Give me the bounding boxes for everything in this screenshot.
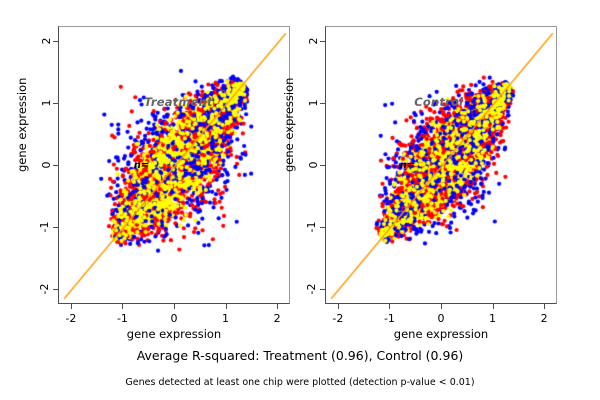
- x-tick-mark: [441, 304, 442, 309]
- x-tick-label: -2: [332, 312, 343, 325]
- y-axis-title-text: gene expression: [282, 156, 296, 172]
- y-tick-mark: [320, 289, 325, 290]
- y-tick-label: 1: [310, 97, 317, 110]
- panel-title-control: Control: [414, 95, 463, 109]
- y-axis-title: gene expression: [281, 157, 297, 171]
- y-tick-label-text: -1: [305, 221, 318, 232]
- plot-area-control: [325, 26, 557, 304]
- x-tick-mark: [338, 304, 339, 309]
- n-count-label-treatment: n=: [134, 160, 150, 171]
- y-tick-label: -1: [306, 220, 317, 233]
- x-tick-mark: [493, 304, 494, 309]
- y-tick-label-text: 0: [307, 162, 320, 169]
- y-tick-mark: [320, 227, 325, 228]
- caption-average-r-squared: Average R-squared: Treatment (0.96), Con…: [0, 348, 600, 363]
- y-tick-mark: [320, 103, 325, 104]
- y-tick-mark: [320, 165, 325, 166]
- y-tick-label-text: -2: [305, 283, 318, 294]
- scatter-canvas-control: [326, 27, 557, 304]
- y-tick-label-text: 2: [307, 38, 320, 45]
- x-tick-label: 0: [438, 312, 445, 325]
- y-tick-mark: [320, 41, 325, 42]
- x-tick-label: -1: [384, 312, 395, 325]
- figure-root: Treatmentn=-2-1012-2-1012gene expression…: [0, 0, 600, 400]
- x-tick-mark: [544, 304, 545, 309]
- x-axis-title: gene expression: [394, 327, 488, 341]
- y-tick-label: 0: [310, 159, 317, 172]
- n-count-label-control: n=: [400, 160, 416, 171]
- x-tick-label: 1: [489, 312, 496, 325]
- x-tick-label: 2: [541, 312, 548, 325]
- y-tick-label: -2: [306, 282, 317, 295]
- y-tick-label: 2: [310, 35, 317, 48]
- y-tick-label-text: 1: [307, 100, 320, 107]
- x-tick-mark: [389, 304, 390, 309]
- scatter-panel-control: Controln=-2-1012-2-1012gene expressionge…: [0, 0, 600, 400]
- caption-detection-note: Genes detected at least one chip were pl…: [0, 377, 600, 388]
